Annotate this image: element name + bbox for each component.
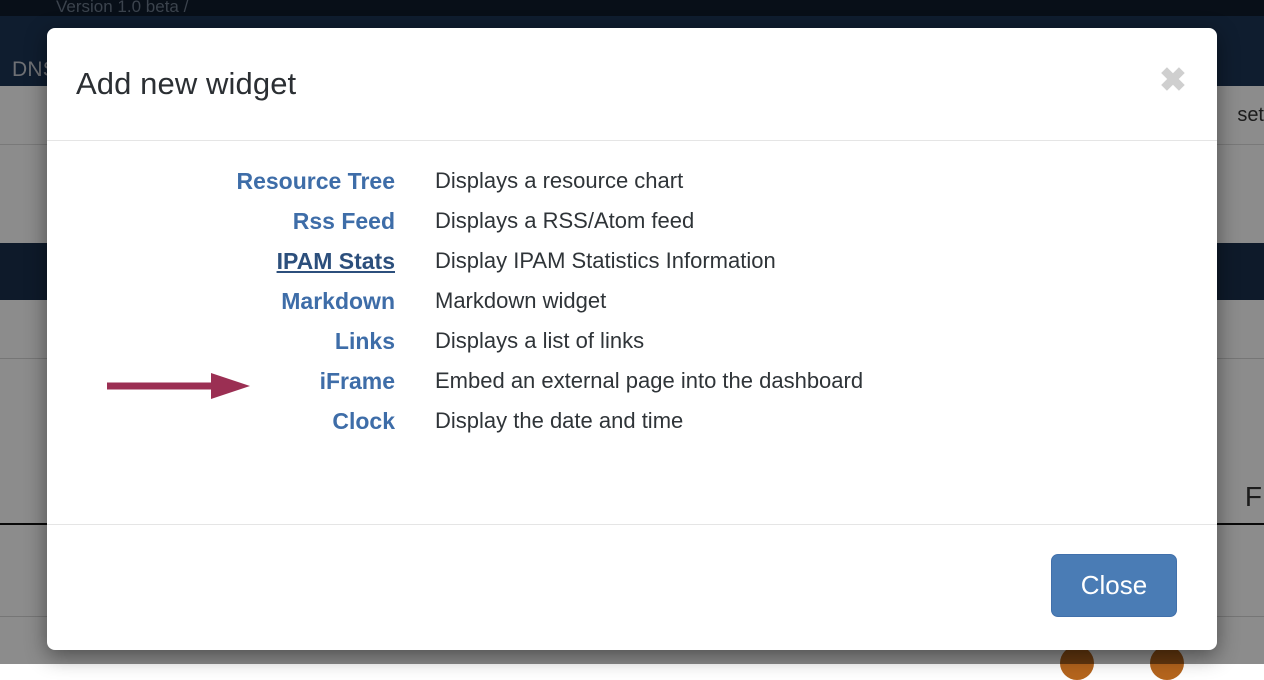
widget-link-markdown[interactable]: Markdown	[281, 288, 395, 314]
widget-description: Displays a RSS/Atom feed	[435, 208, 694, 233]
table-row[interactable]: Links Displays a list of links	[47, 321, 1217, 361]
widget-description: Markdown widget	[435, 288, 606, 313]
widget-description-cell: Displays a list of links	[395, 321, 1217, 361]
widget-description-cell: Displays a resource chart	[395, 161, 1217, 201]
add-widget-modal: Add new widget ✖ Resource Tree Displays …	[47, 28, 1217, 650]
widget-name-cell: Links	[47, 321, 395, 361]
widget-description-cell: Display the date and time	[395, 401, 1217, 441]
widget-link-links[interactable]: Links	[335, 328, 395, 354]
table-row[interactable]: Markdown Markdown widget	[47, 281, 1217, 321]
widget-description: Displays a list of links	[435, 328, 644, 353]
widget-list: Resource Tree Displays a resource chart …	[47, 161, 1217, 441]
close-button[interactable]: Close	[1051, 554, 1177, 617]
widget-description: Display the date and time	[435, 408, 683, 433]
widget-name-cell: Resource Tree	[47, 161, 395, 201]
page-title: Add new widget	[76, 66, 296, 102]
widget-name-cell: IPAM Stats	[47, 241, 395, 281]
close-icon[interactable]: ✖	[1151, 58, 1195, 102]
widget-description: Display IPAM Statistics Information	[435, 248, 776, 273]
widget-name-cell: Markdown	[47, 281, 395, 321]
widget-link-ipam-placeholder[interactable]: Resource Tree	[236, 168, 395, 194]
widget-description-cell: Markdown widget	[395, 281, 1217, 321]
table-row[interactable]: Resource Tree Displays a resource chart	[47, 161, 1217, 201]
widget-description-cell: Displays a RSS/Atom feed	[395, 201, 1217, 241]
table-row[interactable]: Rss Feed Displays a RSS/Atom feed	[47, 201, 1217, 241]
widget-name-cell: iFrame	[47, 361, 395, 401]
widget-link-iframe[interactable]: iFrame	[320, 368, 395, 394]
widget-description-cell: Display IPAM Statistics Information	[395, 241, 1217, 281]
table-row[interactable]: Clock Display the date and time	[47, 401, 1217, 441]
widget-link-clock[interactable]: Clock	[332, 408, 395, 434]
table-row[interactable]: iFrame Embed an external page into the d…	[47, 361, 1217, 401]
table-row[interactable]: IPAM Stats Display IPAM Statistics Infor…	[47, 241, 1217, 281]
widget-link-rss-feed[interactable]: Rss Feed	[293, 208, 395, 234]
widget-description-cell: Embed an external page into the dashboar…	[395, 361, 1217, 401]
modal-header: Add new widget ✖	[47, 28, 1217, 141]
widget-name-cell: Rss Feed	[47, 201, 395, 241]
widget-description: Displays a resource chart	[435, 168, 683, 193]
widget-link-ipam-stats[interactable]: IPAM Stats	[277, 248, 395, 274]
widget-description: Embed an external page into the dashboar…	[435, 368, 863, 393]
widget-name-cell: Clock	[47, 401, 395, 441]
modal-body: Resource Tree Displays a resource chart …	[47, 141, 1217, 524]
modal-footer: Close	[47, 524, 1217, 650]
